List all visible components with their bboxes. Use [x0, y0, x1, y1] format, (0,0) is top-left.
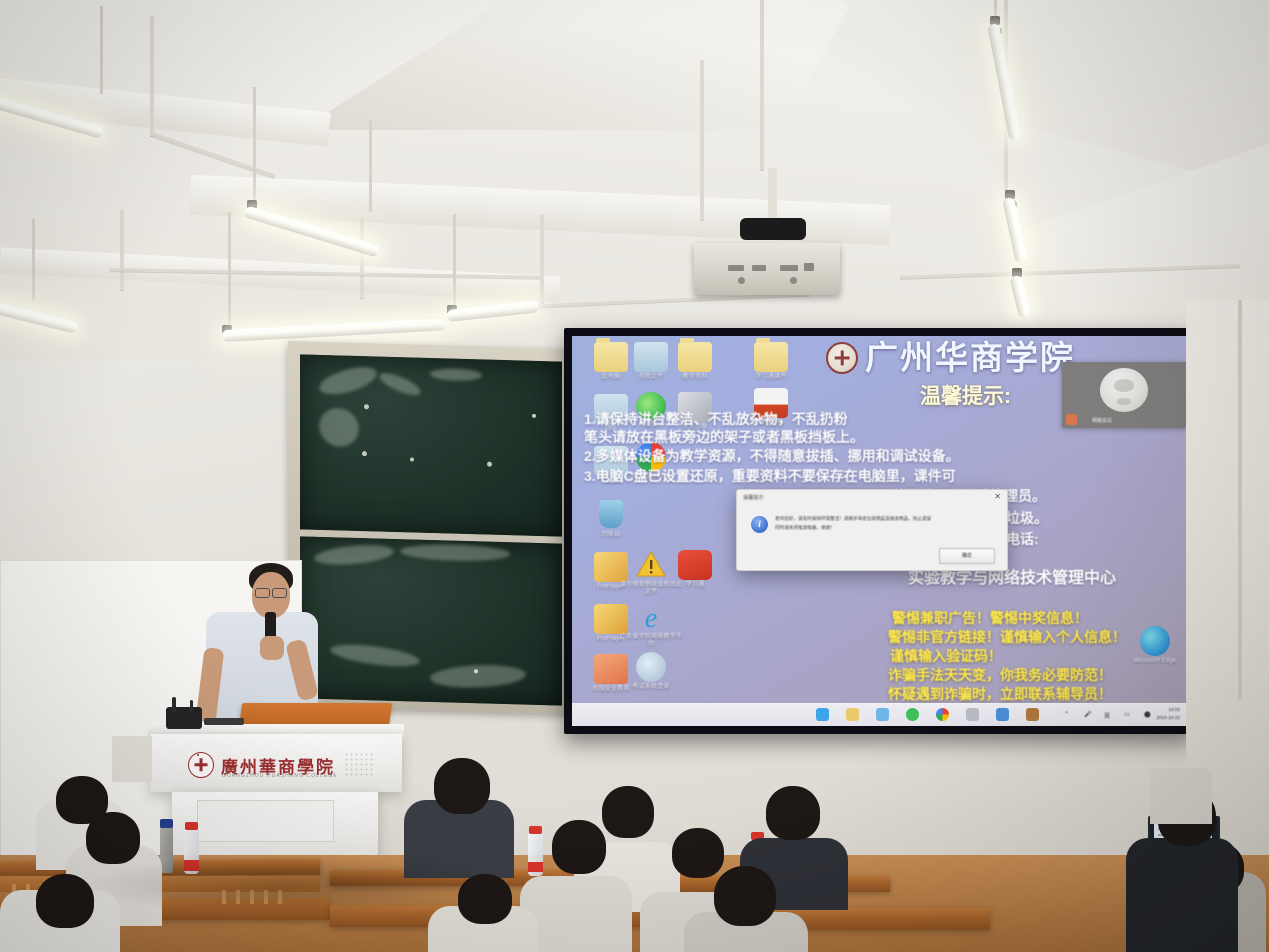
chrome-icon[interactable]: [936, 708, 949, 721]
system-dialog[interactable]: 温馨提示 ✕ 老师您好，请及时保持环境整洁！请顺手带走垃圾物品及随身物品，防止遗…: [736, 489, 1008, 571]
audience-head: [672, 828, 724, 878]
dialog-title: 温馨提示: [743, 494, 764, 501]
projected-desktop[interactable]: 此电脑 视频文件 教学资料 学习通课件 网络 微信 希沃白板 课件文档: [572, 336, 1186, 726]
antifraud-line: 谨慎输入验证码！: [890, 646, 1002, 666]
tips-title: 温馨提示:: [920, 380, 1011, 410]
bottle-label: [528, 862, 543, 872]
podium-cable: [204, 718, 244, 725]
tip-line: 笔头请放在黑板旁边的架子或者黑板挡板上。: [584, 427, 864, 447]
taskbar-clock-time[interactable]: 16:05: [1132, 707, 1180, 713]
audience-head: [602, 786, 654, 838]
dialog-ok-button[interactable]: 确定: [939, 548, 995, 564]
desktop-icon[interactable]: 考试系统登录: [620, 652, 682, 691]
desktop-icon-label: 考试系统登录: [620, 684, 682, 691]
desktop-icon[interactable]: 教学资料: [664, 342, 726, 381]
huashang-seal-logo: [826, 342, 858, 374]
desktop-icon-label: 广东省学院网络教学平台: [620, 634, 682, 648]
chart-app-icon[interactable]: [966, 708, 979, 721]
chair-back-right: [1150, 768, 1212, 824]
taskbar-clock-date[interactable]: 2024-10-22: [1128, 715, 1180, 721]
file-explorer-icon[interactable]: [846, 708, 859, 721]
participant-name: 网络会议: [1092, 417, 1112, 424]
webcam-overlay[interactable]: 网络会议: [1062, 362, 1186, 428]
svg-text:e: e: [645, 603, 657, 632]
lecture-hall-photo: 此电脑 视频文件 教学资料 学习通课件 网络 微信 希沃白板 课件文档: [0, 0, 1269, 952]
presenter-mic-hand: [260, 636, 284, 660]
antifraud-line: 警惕兼职广告！警惕中奖信息！: [892, 608, 1088, 628]
chalkboard-panel-top: [300, 354, 562, 536]
wall-cabinet: [112, 736, 152, 782]
desktop-icon[interactable]: e 广东省学院网络教学平台: [620, 602, 682, 648]
projector-port-6: [790, 277, 797, 284]
podium-speaker-grill: [344, 752, 374, 778]
bottle-cap: [185, 822, 198, 830]
antifraud-line: 怀疑遇到诈骗时，立即联系辅导员！: [888, 684, 1112, 704]
wechat-icon[interactable]: [906, 708, 919, 721]
dialog-message-line2: 同时请关闭电源电器，谢谢！: [775, 524, 999, 531]
clock-icon: [636, 652, 666, 682]
audience-head: [552, 820, 606, 874]
info-icon: [751, 516, 768, 533]
audience-head: [766, 786, 820, 840]
projector-cables: [740, 218, 806, 240]
ambient-shadow: [80, 855, 500, 915]
ceiling-conduit-4: [120, 210, 124, 290]
desktop-icon-label: Microsoft Edge: [1124, 658, 1186, 665]
desktop-icon[interactable]: 学习通课件: [740, 342, 802, 381]
desktop-icon-label: 学习通课件: [740, 374, 802, 381]
windows-taskbar[interactable]: ⌃ 🎤 英 ▭ ⬤ 16:05 2024-10-22: [572, 703, 1186, 726]
recycle-bin-icon: [594, 500, 628, 530]
tray-mic-icon[interactable]: 🎤: [1084, 711, 1091, 718]
close-icon[interactable]: ✕: [994, 493, 1001, 501]
tip-line: 2.多媒体设备为教学资源，不得随意拔插、挪用和调试设备。: [584, 446, 960, 466]
antifraud-line: 诈骗手法天天变，你我务必要防范！: [888, 665, 1112, 685]
podium-seal-logo: [188, 752, 214, 778]
desktop-icon-label: 学习通: [664, 582, 726, 589]
tip-line: 3.电脑C盘已设置还原，重要资料不要保存在电脑里，课件可: [584, 466, 956, 486]
desktop-icon-label: 教学资料: [664, 374, 726, 381]
antifraud-line: 警惕非官方链接！谨慎输入个人信息！: [888, 627, 1126, 647]
ceiling-projector: [694, 243, 840, 295]
ie-e-svg: e: [635, 602, 667, 632]
projector-port-1: [728, 265, 744, 271]
photos-icon[interactable]: [996, 708, 1009, 721]
folder-icon: [678, 342, 712, 372]
warning-icon: [634, 550, 668, 580]
podium-front-panel: [197, 800, 334, 842]
ceiling-conduit-3: [360, 218, 364, 298]
mail-icon[interactable]: [876, 708, 889, 721]
podium-mic-arm: [172, 697, 176, 713]
desktop-icon[interactable]: 回收站: [580, 500, 642, 539]
wall-sign-seal-logo: [197, 754, 199, 756]
projector-port-4: [804, 263, 814, 271]
ceiling-conduit-6: [700, 60, 704, 220]
glasses-icon: [272, 588, 287, 598]
bottle-cap: [529, 826, 542, 834]
desktop-icon[interactable]: 学习通: [664, 550, 726, 589]
audience-head: [714, 866, 776, 926]
start-icon[interactable]: [816, 708, 829, 721]
chalkboard-panel-bottom: [300, 536, 562, 705]
warning-triangle-svg: [636, 550, 666, 578]
ceiling-conduit-7: [760, 0, 764, 170]
folder-icon: [754, 342, 788, 372]
audience-member-with-laptop: [1126, 838, 1238, 952]
glasses-icon: [255, 588, 270, 598]
desktop-icon[interactable]: Microsoft Edge: [1124, 626, 1186, 665]
institution-title: 广州华商学院: [865, 340, 1075, 376]
flask-cap: [160, 819, 173, 828]
audience-head: [434, 758, 490, 814]
desktop-icon-label: 回收站: [580, 532, 642, 539]
tray-chevron-icon[interactable]: ⌃: [1064, 711, 1069, 718]
microsoft-edge-icon: [1140, 626, 1170, 656]
mute-badge-icon: [1066, 414, 1077, 425]
tray-ime-icon[interactable]: 英: [1104, 711, 1110, 720]
folder-icon: [634, 342, 668, 372]
projector-port-5: [738, 277, 745, 284]
projector-port-2: [752, 265, 766, 271]
dialog-message-line1: 老师您好，请及时保持环境整洁！请顺手带走垃圾物品及随身物品，防止遗留: [775, 515, 999, 522]
default-avatar: [1100, 368, 1148, 412]
tip-line: 1.请保持讲台整洁、不乱放杂物，不乱扔粉: [584, 409, 848, 429]
podium-mic-arm-2: [190, 700, 193, 712]
podium-logo-en: GUANGZHOU HUASHANG COLLEGE: [222, 773, 338, 779]
ceiling-conduit-1: [150, 16, 154, 136]
xuexitong-icon: [678, 550, 712, 580]
ceiling-conduit-11: [540, 215, 544, 303]
projector-port-3: [780, 265, 798, 271]
scanner-icon[interactable]: [1026, 708, 1039, 721]
internet-explorer-icon: e: [634, 602, 668, 632]
right-wall-seam: [1238, 300, 1242, 700]
